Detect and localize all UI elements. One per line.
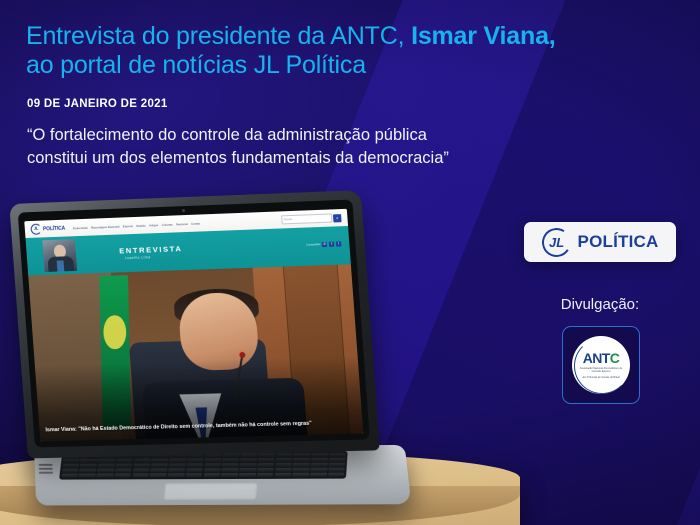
antc-subtitle-line-2: dos Tribunais de Contas do Brasil [576,376,626,379]
nav-item-nacional[interactable]: Nacional [176,221,188,225]
search-icon[interactable]: ⌕ [333,214,342,222]
jl-mark-text: JL [548,236,563,249]
jl-politica-logo-card: JL POLÍTICA [524,222,676,262]
promo-graphic: Entrevista do presidente da ANTC, Ismar … [0,0,700,525]
antc-globe-icon: C [610,350,620,366]
nav-item-estado[interactable]: Estado [136,223,146,227]
laptop-screen: JL POLÍTICA Entrevistas Reportagem Espec… [24,209,363,442]
jl-politica-label: POLÍTICA [578,232,659,252]
divulgacao-label: Divulgação: [524,296,676,313]
quote-line-2: constitui um dos elementos fundamentais … [27,147,587,170]
article-photo: Ismar Viana: "Não há Estado Democrático … [28,264,363,441]
laptop-bezel: JL POLÍTICA Entrevistas Reportagem Espec… [18,200,370,448]
pull-quote: “O fortalecimento do controle da adminis… [27,124,587,171]
antc-wordmark: ANTC [583,351,620,365]
site-logo-text: POLÍTICA [43,225,66,232]
site-logo[interactable]: JL POLÍTICA [30,223,65,235]
antc-subtitle-line-1: Associação Nacional dos Auditores de Con… [576,367,626,374]
banner-title: ENTREVISTA [119,244,183,255]
laptop-lid: JL POLÍTICA Entrevistas Reportagem Espec… [9,190,380,458]
quote-line-1: “O fortalecimento do controle da adminis… [27,124,587,147]
search-placeholder: Buscar [284,218,292,221]
antc-word-prefix: ANT [583,350,610,366]
whatsapp-icon[interactable]: ✆ [322,242,328,247]
laptop-ports [39,464,53,474]
jl-circle-icon: JL [539,225,573,259]
author-thumbnail [42,239,77,272]
laptop-trackpad [164,483,258,500]
site-search: Buscar ⌕ [281,213,342,225]
twitter-icon[interactable]: t [336,241,342,246]
webcam-icon [182,209,185,212]
antc-logo: ANTC Associação Nacional dos Auditores d… [572,336,630,394]
laptop-mockup: JL POLÍTICA Entrevistas Reportagem Espec… [8,183,401,509]
nav-item-entrevistas[interactable]: Entrevistas [73,225,88,230]
page-title: Entrevista do presidente da ANTC, Ismar … [26,22,646,80]
search-input[interactable]: Buscar [281,213,332,224]
nav-item-reportagem-especial[interactable]: Reportagem Especial [91,224,120,229]
nav-item-esporte[interactable]: Esporte [123,224,134,228]
nav-item-colunas[interactable]: Colunas [161,222,172,226]
jl-mark-text: JL [33,227,38,232]
site-nav-items: Entrevistas Reportagem Especial Esporte … [73,221,200,230]
nav-item-artigos[interactable]: Artigos [149,223,159,227]
publish-date: 09 DE JANEIRO DE 2021 [27,98,168,110]
antc-logo-card: ANTC Associação Nacional dos Auditores d… [562,326,640,404]
share-label: Compartilhe [306,243,320,247]
jl-circle-icon: JL [30,224,42,235]
headline-strong-text: Ismar Viana, [411,22,555,50]
nav-item-cartas[interactable]: Cartas [191,221,200,225]
news-website: JL POLÍTICA Entrevistas Reportagem Espec… [24,209,363,442]
facebook-icon[interactable]: f [329,242,335,247]
headline-line-1: Entrevista do presidente da ANTC, Ismar … [26,22,646,51]
banner-subtitle: Josefils Lima [125,255,151,260]
headline-line-2: ao portal de notícias JL Política [26,51,646,80]
share-bar: Compartilhe ✆ f t [306,241,341,247]
headline-normal-text: Entrevista do presidente da ANTC, [26,22,411,50]
